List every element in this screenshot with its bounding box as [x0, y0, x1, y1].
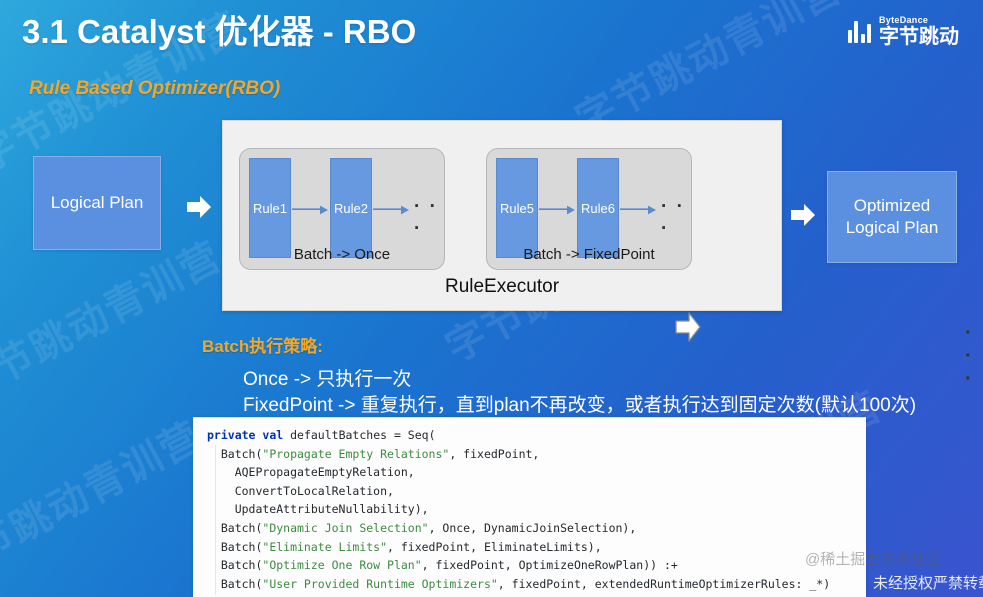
code-block: private val defaultBatches = Seq( Batch(… [193, 417, 866, 597]
optimized-logical-plan-box: Optimized Logical Plan [827, 171, 957, 263]
indent-guide [215, 445, 216, 595]
batch-label: Batch -> Once [240, 246, 444, 263]
logo-text-en: ByteDance [879, 16, 959, 25]
arrow-right-icon [373, 205, 411, 215]
logical-plan-box: Logical Plan [33, 156, 161, 250]
arrow-right-icon [187, 194, 211, 220]
rule-box: Rule2 [330, 158, 372, 258]
rule-executor-label: RuleExecutor [223, 276, 781, 298]
arrow-right-icon [791, 202, 815, 228]
code-lines: private val defaultBatches = Seq( Batch(… [207, 426, 866, 593]
arrow-right-icon [620, 205, 658, 215]
ellipsis: · · · [661, 196, 691, 240]
code-line: Batch("User Provided Runtime Optimizers"… [207, 575, 866, 594]
code-line: Batch("Eliminate Limits", fixedPoint, El… [207, 538, 866, 557]
ellipsis: · · · [414, 196, 444, 240]
copyright-watermark: 未经授权严禁转载 [873, 572, 983, 593]
code-line: Batch("Optimize One Row Plan", fixedPoin… [207, 556, 866, 575]
slide-canvas: 字节跳动青训营 字节跳动青训营 字节跳动青训营 字节跳动青训营 字节跳动青训营 … [0, 0, 983, 597]
note-once: Once -> 只执行一次 [243, 364, 411, 391]
rule-box: Rule6 [577, 158, 619, 258]
ellipsis: · · · [965, 322, 975, 391]
rule-executor-panel: Rule1 Rule2 · · · Batch -> Once Rule5 Ru… [222, 120, 782, 311]
logo-text: ByteDance 字节跳动 [879, 16, 959, 47]
rule-box: Rule1 [249, 158, 291, 258]
page-title: 3.1 Catalyst 优化器 - RBO [22, 5, 416, 53]
batch-strategy-heading: Batch执行策略: [202, 332, 323, 357]
bar-chart-icon [848, 21, 872, 43]
background-watermark: 字节跳动青训营 [0, 224, 230, 413]
arrow-right-icon [292, 205, 330, 215]
note-fixedpoint: FixedPoint -> 重复执行，直到plan不再改变，或者执行达到固定次数… [243, 390, 916, 417]
batch-group-once: Rule1 Rule2 · · · Batch -> Once [239, 148, 445, 270]
background-watermark: 字节跳动青训营 [0, 404, 210, 593]
code-line: UpdateAttributeNullability), [207, 500, 866, 519]
logo-text-cn: 字节跳动 [879, 27, 959, 47]
code-line: AQEPropagateEmptyRelation, [207, 463, 866, 482]
arrow-right-icon [539, 205, 577, 215]
rule-box: Rule5 [496, 158, 538, 258]
code-line: private val defaultBatches = Seq( [207, 426, 866, 445]
rule-sequence: Rule1 Rule2 · · · [240, 149, 444, 245]
code-line: Batch("Dynamic Join Selection", Once, Dy… [207, 519, 866, 538]
code-line: Batch("Propagate Empty Relations", fixed… [207, 445, 866, 464]
bytedance-logo: ByteDance 字节跳动 [848, 16, 960, 47]
arrow-right-outline-icon [675, 310, 701, 344]
section-subtitle: Rule Based Optimizer(RBO) [29, 78, 280, 100]
batch-label: Batch -> FixedPoint [487, 246, 691, 263]
batch-group-fixedpoint: Rule5 Rule6 · · · Batch -> FixedPoint [486, 148, 692, 270]
rule-sequence: Rule5 Rule6 · · · [487, 149, 691, 245]
code-line: ConvertToLocalRelation, [207, 482, 866, 501]
